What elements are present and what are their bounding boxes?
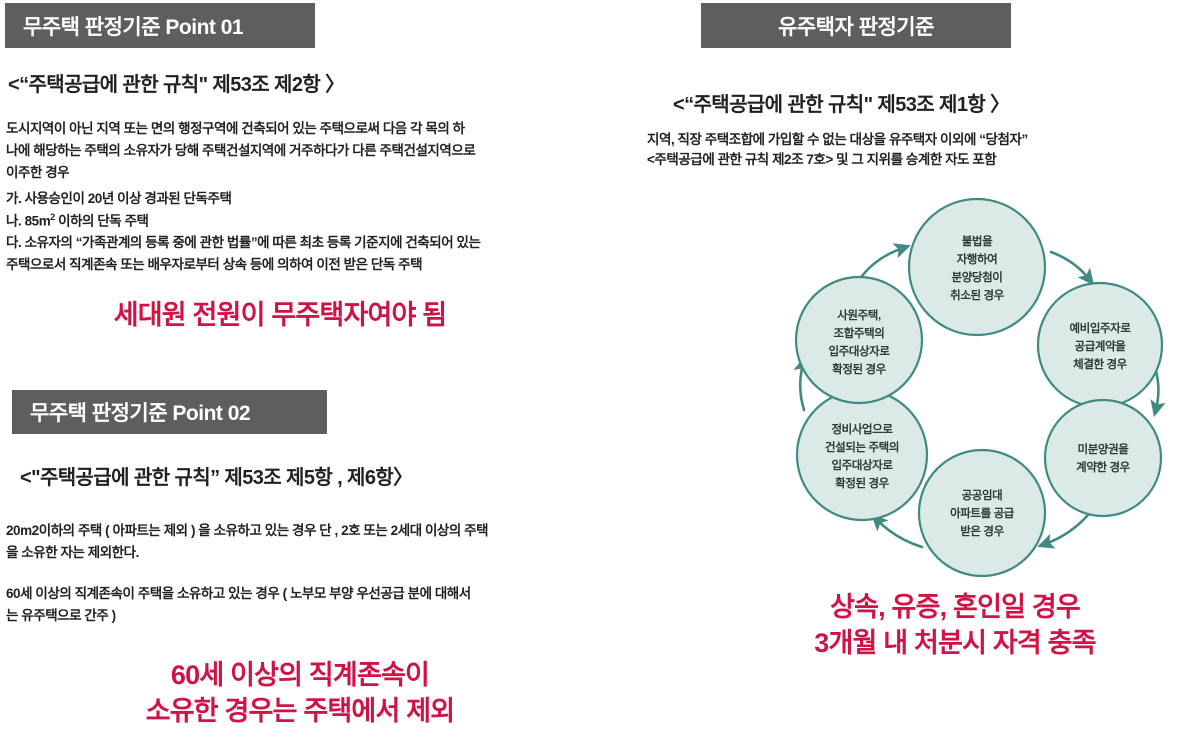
cycle-node-3-line-2: 계약한 경우 [1076,460,1131,474]
point-01-paragraph: 도시지역이 아닌 지역 또는 면의 행정구역에 건축되어 있는 주택으로써 다음… [6,118,476,184]
cycle-node-5-line-3: 입주대상자로 [831,458,893,472]
cycle-node-4-line-3: 받은 경우 [960,524,1004,538]
cycle-node-2-line-3: 체결한 경우 [1073,357,1128,371]
cycle-node-6-line-1: 사원주택, [837,308,881,322]
cycle-node-5-circle [797,390,927,520]
cycle-node-1-line-2: 자행하여 [957,252,998,266]
cycle-node-4-line-1: 공공임대 [962,488,1003,502]
point-01-emphasis: 세대원 전원이 무주택자여야 됨 [0,298,560,334]
cycle-arrow-3-to-4 [1045,515,1088,544]
badge-owner-criteria: 유주택자 판정기준 [701,3,1011,48]
cycle-node-6-line-3: 입주대상자로 [828,344,890,358]
owner-paragraph-line-1: 지역, 직장 주택조합에 가입할 수 없는 대상을 유주택자 이외에 “당첨자” [647,130,1167,150]
cycle-node-5: 정비사업으로 건설되는 주택의 입주대상자로 확정된 경우 [797,390,927,520]
owner-emphasis-line-1: 상속, 유증, 혼인일 경우 [720,590,1190,626]
point-02-paragraph-2: 60세 이상의 직계존속이 주택을 소유하고 있는 경우 ( 노부모 부양 우선… [6,583,476,627]
point-02-emphasis: 60세 이상의 직계존속이 소유한 경우는 주택에서 제외 [0,658,600,729]
owner-emphasis: 상속, 유증, 혼인일 경우 3개월 내 처분시 자격 충족 [720,590,1190,661]
point-01-item-b-prefix: 나. 85m [6,214,50,229]
cycle-node-5-line-2: 건설되는 주택의 [825,440,899,454]
point-02-rule-title: <"주택공급에 관한 규칙” 제53조 제5항 , 제6항〉 [20,461,413,490]
cycle-node-6: 사원주택, 조합주택의 입주대상자로 확정된 경우 [796,277,922,403]
point-02-emphasis-line-2: 소유한 경우는 주택에서 제외 [0,694,600,730]
badge-point-02-label: 무주택 판정기준 Point 02 [30,397,250,427]
owner-emphasis-line-2: 3개월 내 처분시 자격 충족 [720,626,1190,662]
cycle-node-4-line-2: 아파트를 공급 [950,506,1015,520]
owner-rule-title: <“주택공급에 관한 규칙" 제53조 제1항 〉 [673,88,1010,117]
cycle-arrow-4-to-5 [877,520,922,547]
cycle-node-6-line-2: 조합주택의 [834,326,885,340]
cycle-node-2-line-1: 예비입주자로 [1069,321,1131,335]
cycle-node-3: 미분양권을 계약한 경우 [1045,400,1161,516]
point-02-emphasis-line-1: 60세 이상의 직계존속이 [0,658,600,694]
cycle-arrow-1-to-2 [1051,252,1089,279]
badge-point-01-label: 무주택 판정기준 Point 01 [23,11,243,41]
cycle-node-1-line-3: 분양당첨이 [952,270,1003,284]
cycle-svg: 불법을 자행하여 분양당첨이 취소된 경우 예비입주자로 공급계약을 체결한 경… [770,195,1190,595]
cycle-node-6-circle [796,277,922,403]
point-01-item-b: 나. 85m2 이하의 단독 주택 [6,210,486,232]
cycle-node-5-line-4: 확정된 경우 [835,476,890,490]
cycle-node-5-line-1: 정비사업으로 [831,422,893,436]
cycle-node-1: 불법을 자행하여 분양당첨이 취소된 경우 [909,199,1045,335]
point-01-item-b-suffix: 이하의 단독 주택 [55,214,149,229]
owner-criteria-cycle-diagram: 불법을 자행하여 분양당첨이 취소된 경우 예비입주자로 공급계약을 체결한 경… [770,195,1190,595]
badge-owner-criteria-label: 유주택자 판정기준 [778,11,934,41]
owner-paragraph: 지역, 직장 주택조합에 가입할 수 없는 대상을 유주택자 이외에 “당첨자”… [647,130,1167,171]
badge-point-01: 무주택 판정기준 Point 01 [5,3,315,48]
cycle-node-2-line-2: 공급계약을 [1075,339,1127,353]
badge-point-02: 무주택 판정기준 Point 02 [12,390,327,434]
cycle-node-3-circle [1045,400,1161,516]
point-02-paragraph-1: 20m2이하의 주택 ( 아파트는 제외 ) 을 소유하고 있는 경우 단 , … [6,520,492,564]
cycle-node-1-circle [909,199,1045,335]
cycle-node-1-line-1: 불법을 [962,234,993,248]
point-01-item-c: 다. 소유자의 “가족관계의 등록 중에 관한 법률”에 따른 최초 등록 기준… [6,232,492,276]
point-01-rule-title: <“주택공급에 관한 규칙" 제53조 제2항 〉 [8,68,345,97]
owner-paragraph-line-2: <주택공급에 관한 규칙 제2조 7호> 및 그 지위를 승계한 자도 포함 [647,150,1167,170]
point-01-item-a: 가. 사용승인이 20년 이상 경과된 단독주택 [6,188,486,210]
cycle-arrow-6-to-1 [862,248,903,276]
cycle-node-2: 예비입주자로 공급계약을 체결한 경우 [1038,283,1162,407]
cycle-node-3-line-1: 미분양권을 [1078,442,1130,456]
cycle-node-6-line-4: 확정된 경우 [832,362,887,376]
cycle-node-4: 공공임대 아파트를 공급 받은 경우 [919,450,1045,576]
cycle-node-1-line-4: 취소된 경우 [950,288,1005,302]
slide-root: 무주택 판정기준 Point 01 <“주택공급에 관한 규칙" 제53조 제2… [0,0,1203,740]
